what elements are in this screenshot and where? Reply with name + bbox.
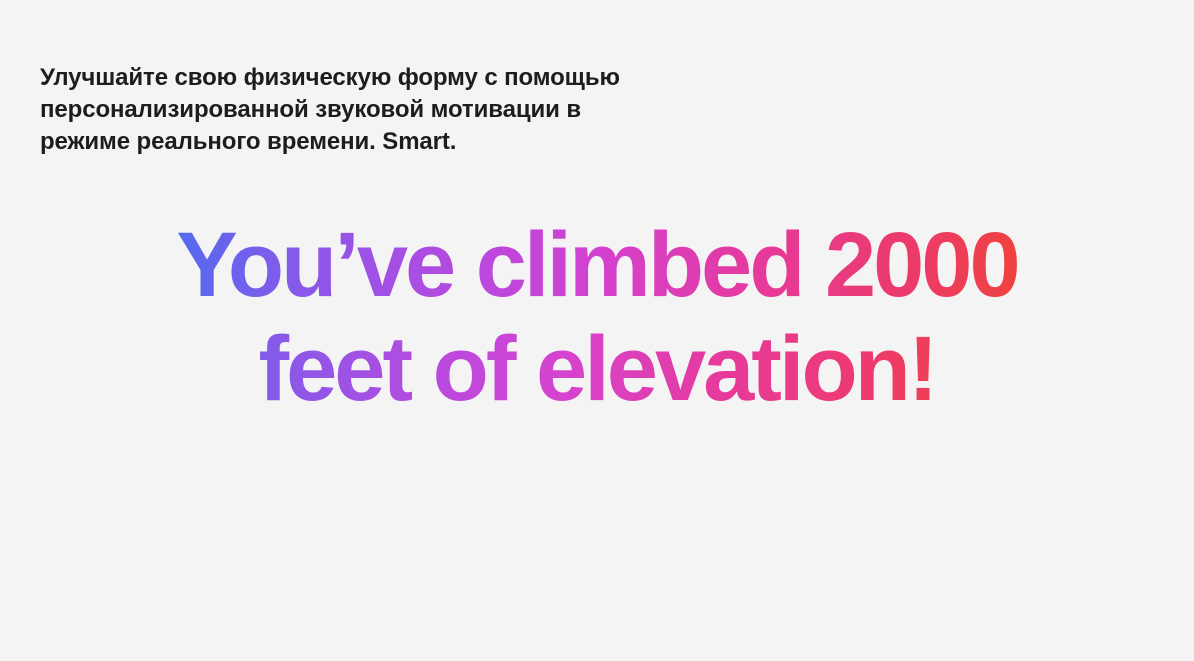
headline-line-2: feet of elevation!: [0, 317, 1194, 421]
intro-paragraph: Улучшайте свою физическую форму с помощь…: [40, 62, 660, 158]
headline-line-1: You’ve climbed 2000: [0, 213, 1194, 317]
page-root: Улучшайте свою физическую форму с помощь…: [0, 0, 1194, 661]
headline: You’ve climbed 2000 feet of elevation!: [0, 213, 1194, 421]
